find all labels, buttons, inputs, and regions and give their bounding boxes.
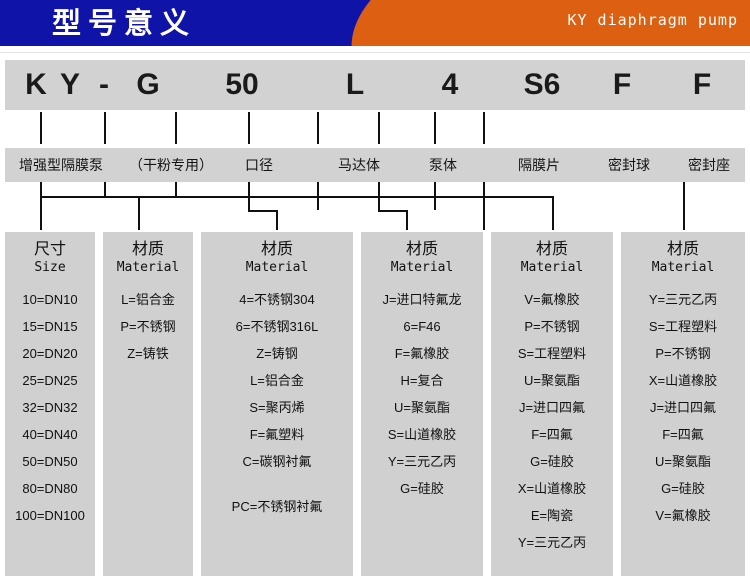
list-item: F=四氟	[491, 421, 613, 448]
list-item: G=硅胶	[491, 448, 613, 475]
tick-mark	[483, 112, 485, 144]
list-item: X=山道橡胶	[491, 475, 613, 502]
header-subtitle: KY diaphragm pump	[567, 11, 738, 29]
page-header: 型号意义 KY diaphragm pump	[0, 0, 750, 46]
list-item: G=硅胶	[361, 475, 483, 502]
detail-column-body-material: 材质Material4=不锈钢3046=不锈钢316LZ=铸钢L=铝合金S=聚丙…	[201, 232, 353, 576]
list-item: Z=铸铁	[103, 340, 193, 367]
detail-column-seal-seat-material: 材质MaterialY=三元乙丙S=工程塑料P=不锈钢X=山道橡胶J=进口四氟F…	[621, 232, 745, 576]
list-item: X=山道橡胶	[621, 367, 745, 394]
list-item: C=碳钢衬氟	[201, 448, 353, 475]
column-header-cn: 材质	[103, 240, 193, 259]
list-item: E=陶瓷	[491, 502, 613, 529]
column-header: 材质Material	[361, 232, 483, 276]
list-item: 20=DN20	[5, 340, 95, 367]
part-label: 隔膜片	[505, 148, 573, 182]
tick-mark	[175, 112, 177, 144]
detail-column-motor-material: 材质MaterialL=铝合金P=不锈钢Z=铸铁	[103, 232, 193, 576]
list-item: J=进口四氟	[491, 394, 613, 421]
list-item: S=工程塑料	[621, 313, 745, 340]
list-item: Z=铸钢	[201, 340, 353, 367]
detail-column-diaphragm-material: 材质MaterialV=氟橡胶P=不锈钢S=工程塑料U=聚氨酯J=进口四氟F=四…	[491, 232, 613, 576]
list-item: 6=不锈钢316L	[201, 313, 353, 340]
model-code-token: G	[127, 60, 169, 110]
connector-vertical	[552, 196, 554, 230]
connector-vertical	[104, 182, 106, 196]
model-code-token: -	[87, 60, 121, 110]
list-item: 50=DN50	[5, 448, 95, 475]
part-label: 马达体	[325, 148, 393, 182]
list-item: 15=DN15	[5, 313, 95, 340]
header-divider	[0, 52, 750, 53]
tick-mark	[40, 112, 42, 144]
model-code-token: S6	[515, 60, 569, 110]
column-header-en: Material	[201, 259, 353, 276]
model-code-band: KY-G50L4S6FF	[5, 60, 745, 110]
column-header-cn: 材质	[621, 240, 745, 259]
page-title: 型号意义	[52, 3, 196, 45]
connector-vertical	[483, 182, 485, 230]
list-item: V=氟橡胶	[621, 502, 745, 529]
list-item: PC=不锈钢衬氟	[201, 493, 353, 520]
connector-horizontal	[248, 210, 278, 212]
list-item: 32=DN32	[5, 394, 95, 421]
model-code-token: F	[685, 60, 719, 110]
column-header-cn: 尺寸	[5, 240, 95, 259]
part-label: （干粉专用）	[115, 148, 227, 182]
part-label: 增强型隔膜泵	[7, 148, 115, 182]
column-option-list: L=铝合金P=不锈钢Z=铸铁	[103, 286, 193, 367]
diagram-root: 型号意义 KY diaphragm pump KY-G50L4S6FF 增强型隔…	[0, 0, 750, 576]
column-header-en: Material	[103, 259, 193, 276]
detail-column-pump-body-material: 材质MaterialJ=进口特氟龙6=F46F=氟橡胶H=复合U=聚氨酯S=山道…	[361, 232, 483, 576]
list-item: 6=F46	[361, 313, 483, 340]
tick-mark	[104, 112, 106, 144]
model-code-token: 4	[430, 60, 470, 110]
list-item: 100=DN100	[5, 502, 95, 529]
list-item: Y=三元乙丙	[361, 448, 483, 475]
list-item: 10=DN10	[5, 286, 95, 313]
list-spacer	[201, 475, 353, 493]
list-item: Y=三元乙丙	[621, 286, 745, 313]
column-option-list: 10=DN1015=DN1520=DN2025=DN2532=DN3240=DN…	[5, 286, 95, 529]
connector-horizontal	[378, 210, 408, 212]
column-header: 材质Material	[621, 232, 745, 276]
list-item: P=不锈钢	[621, 340, 745, 367]
list-item: Y=三元乙丙	[491, 529, 613, 556]
column-option-list: J=进口特氟龙6=F46F=氟橡胶H=复合U=聚氨酯S=山道橡胶Y=三元乙丙G=…	[361, 286, 483, 502]
list-item: S=山道橡胶	[361, 421, 483, 448]
list-item: F=氟橡胶	[361, 340, 483, 367]
part-label: 密封球	[595, 148, 663, 182]
list-item: L=铝合金	[201, 367, 353, 394]
detail-column-size: 尺寸Size10=DN1015=DN1520=DN2025=DN2532=DN3…	[5, 232, 95, 576]
column-header-cn: 材质	[361, 240, 483, 259]
list-item: S=工程塑料	[491, 340, 613, 367]
list-item: 4=不锈钢304	[201, 286, 353, 313]
model-code-token: K	[19, 60, 53, 110]
connector-horizontal	[138, 196, 552, 198]
connector-vertical	[40, 182, 42, 230]
column-header: 材质Material	[103, 232, 193, 276]
part-label: 泵体	[415, 148, 471, 182]
list-item: J=进口四氟	[621, 394, 745, 421]
list-item: J=进口特氟龙	[361, 286, 483, 313]
model-code-token: 50	[215, 60, 269, 110]
list-item: V=氟橡胶	[491, 286, 613, 313]
column-header-en: Material	[361, 259, 483, 276]
connector-vertical	[138, 196, 140, 230]
column-option-list: 4=不锈钢3046=不锈钢316LZ=铸钢L=铝合金S=聚丙烯F=氟塑料C=碳钢…	[201, 286, 353, 520]
list-item: 40=DN40	[5, 421, 95, 448]
column-header-cn: 材质	[201, 240, 353, 259]
column-option-list: V=氟橡胶P=不锈钢S=工程塑料U=聚氨酯J=进口四氟F=四氟G=硅胶X=山道橡…	[491, 286, 613, 556]
column-header: 尺寸Size	[5, 232, 95, 276]
list-item: 25=DN25	[5, 367, 95, 394]
list-item: U=聚氨酯	[491, 367, 613, 394]
model-code-token: F	[605, 60, 639, 110]
tick-mark	[434, 112, 436, 144]
tick-mark	[248, 112, 250, 144]
list-item: L=铝合金	[103, 286, 193, 313]
part-label: 口径	[229, 148, 289, 182]
column-header-en: Size	[5, 259, 95, 276]
connector-vertical	[406, 210, 408, 230]
model-code-token: L	[335, 60, 375, 110]
connector-vertical	[276, 210, 278, 230]
list-item: U=聚氨酯	[621, 448, 745, 475]
column-header: 材质Material	[491, 232, 613, 276]
column-header-en: Material	[491, 259, 613, 276]
list-item: F=氟塑料	[201, 421, 353, 448]
list-item: U=聚氨酯	[361, 394, 483, 421]
column-header-en: Material	[621, 259, 745, 276]
connector-vertical	[175, 182, 177, 196]
tick-mark	[378, 112, 380, 144]
connector-vertical	[683, 182, 685, 230]
part-label: 密封座	[675, 148, 743, 182]
tick-mark	[317, 112, 319, 144]
list-item: F=四氟	[621, 421, 745, 448]
list-item: H=复合	[361, 367, 483, 394]
column-option-list: Y=三元乙丙S=工程塑料P=不锈钢X=山道橡胶J=进口四氟F=四氟U=聚氨酯G=…	[621, 286, 745, 529]
label-band: 增强型隔膜泵（干粉专用）口径马达体泵体隔膜片密封球密封座	[5, 148, 745, 182]
list-item: P=不锈钢	[491, 313, 613, 340]
column-header-cn: 材质	[491, 240, 613, 259]
list-item: P=不锈钢	[103, 313, 193, 340]
list-item: 80=DN80	[5, 475, 95, 502]
model-code-token: Y	[53, 60, 87, 110]
column-header: 材质Material	[201, 232, 353, 276]
list-item: G=硅胶	[621, 475, 745, 502]
list-item: S=聚丙烯	[201, 394, 353, 421]
